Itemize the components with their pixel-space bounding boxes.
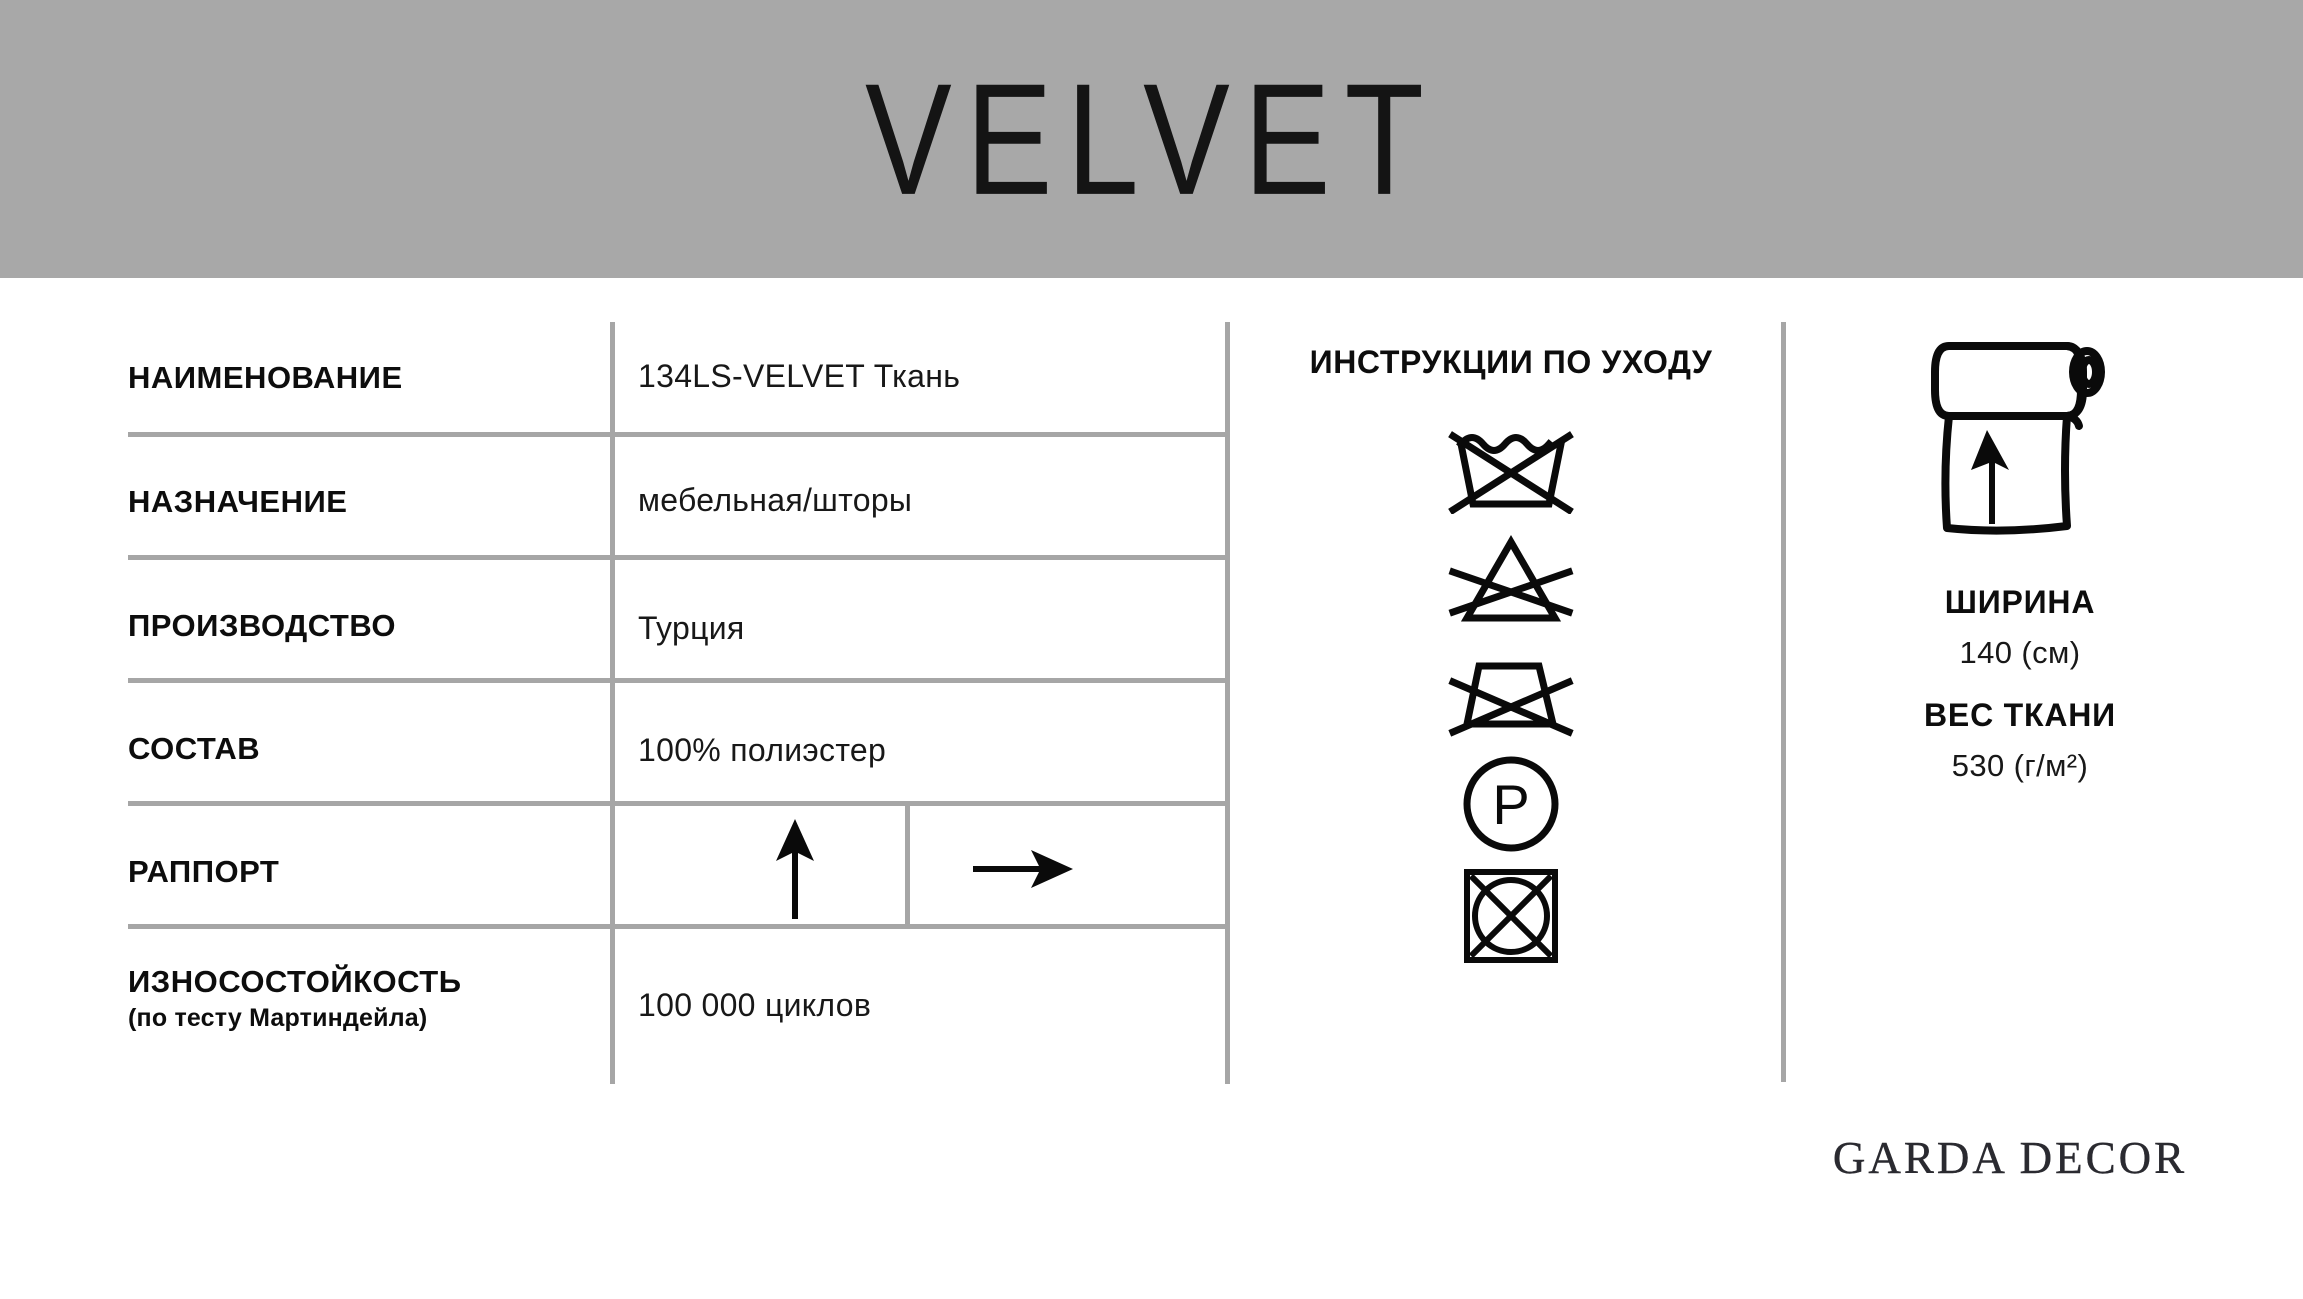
svg-text:P: P (1492, 773, 1529, 836)
care-instructions-title: ИНСТРУКЦИИ ПО УХОДУ (1246, 344, 1776, 381)
spec-value-composition: 100% полиэстер (638, 732, 886, 769)
no-wash-icon (1437, 412, 1585, 524)
spec-label-purpose: НАЗНАЧЕНИЕ (128, 482, 598, 522)
spec-label-durability-sub: (по тесту Мартиндейла) (128, 1002, 598, 1034)
row-separator (128, 801, 1230, 806)
spec-table: НАИМЕНОВАНИЕ 134LS-VELVET Ткань НАЗНАЧЕН… (128, 322, 1230, 1084)
row-separator (128, 678, 1230, 683)
arrow-right-icon (918, 814, 1128, 924)
care-section-divider (1781, 322, 1786, 1082)
spec-label-name: НАИМЕНОВАНИЕ (128, 358, 598, 398)
care-symbol-list: P (1246, 412, 1776, 972)
no-iron-icon (1437, 636, 1585, 748)
row-separator (128, 432, 1230, 437)
spec-value-name: 134LS-VELVET Ткань (638, 358, 960, 395)
spec-label-composition: СОСТАВ (128, 729, 598, 769)
fabric-roll-icon (1800, 326, 2240, 558)
care-instructions-section: ИНСТРУКЦИИ ПО УХОДУ (1246, 322, 1776, 1084)
width-value: 140 (см) (1800, 635, 2240, 671)
dimensions-section: ШИРИНА 140 (см) ВЕС ТКАНИ 530 (г/м²) (1800, 322, 2240, 784)
row-separator (128, 555, 1230, 560)
spec-label-durability: ИЗНОСОСТОЙКОСТЬ (по тесту Мартиндейла) (128, 962, 598, 1034)
arrow-up-icon (690, 814, 900, 924)
spec-value-purpose: мебельная/шторы (638, 482, 912, 519)
weight-label: ВЕС ТКАНИ (1800, 697, 2240, 734)
spec-label-rapport: РАППОРТ (128, 852, 598, 892)
spec-label-durability-main: ИЗНОСОСТОЙКОСТЬ (128, 964, 461, 999)
fabric-spec-sheet: VELVET НАИМЕНОВАНИЕ 134LS-VELVET Ткань Н… (0, 0, 2303, 1299)
spec-value-durability: 100 000 циклов (638, 987, 871, 1024)
no-bleach-icon (1437, 524, 1585, 636)
no-tumble-dry-icon (1437, 860, 1585, 972)
brand-logo: GARDA DECOR (1790, 1132, 2230, 1184)
rapport-cell-divider (905, 806, 910, 928)
page-title: VELVET (0, 0, 2303, 309)
weight-value: 530 (г/м²) (1800, 748, 2240, 784)
row-separator (128, 924, 1230, 929)
spec-value-production: Турция (638, 610, 745, 647)
width-label: ШИРИНА (1800, 584, 2240, 621)
dryclean-p-icon: P (1437, 748, 1585, 860)
spec-label-production: ПРОИЗВОДСТВО (128, 606, 598, 646)
